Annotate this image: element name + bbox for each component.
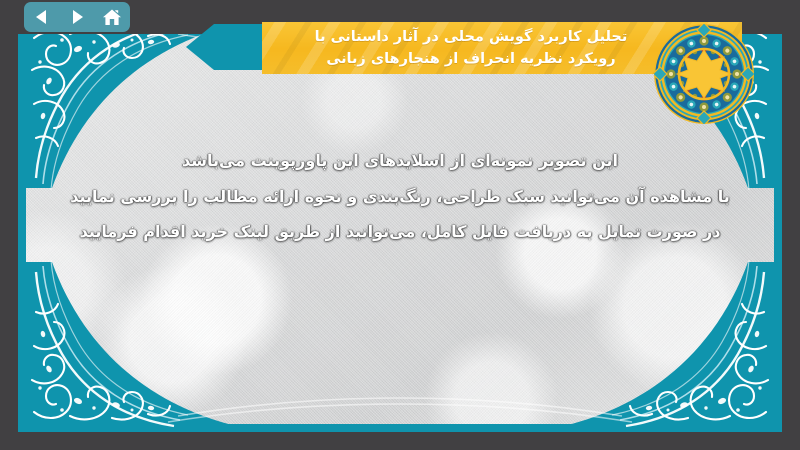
slide-body-text: این تصویر نمونه‌ای از اسلایدهای این پاور… <box>48 143 752 250</box>
presentation-slide: این تصویر نمونه‌ای از اسلایدهای این پاور… <box>0 0 800 450</box>
banner-chevron-tab <box>186 24 268 70</box>
persian-medallion-ornament <box>652 22 756 126</box>
home-button[interactable] <box>99 6 125 28</box>
back-button[interactable] <box>29 6 55 28</box>
triangle-right-icon <box>68 8 86 26</box>
body-line-3: در صورت تمایل به دریافت فایل کامل، می‌تو… <box>48 214 752 250</box>
home-icon <box>102 8 122 27</box>
body-line-2: با مشاهده آن می‌توانید سبک طراحی، رنگ‌بن… <box>48 179 752 215</box>
triangle-left-icon <box>33 8 51 26</box>
body-line-1: این تصویر نمونه‌ای از اسلایدهای این پاور… <box>48 143 752 179</box>
navigation-button-group <box>24 2 130 32</box>
title-line-1: تحلیل کاربرد گویش محلی در آثار داستانی ب… <box>315 26 628 48</box>
title-line-2: رویکرد نظریه انحراف از هنجارهای زبانی <box>326 48 615 70</box>
forward-button[interactable] <box>64 6 90 28</box>
